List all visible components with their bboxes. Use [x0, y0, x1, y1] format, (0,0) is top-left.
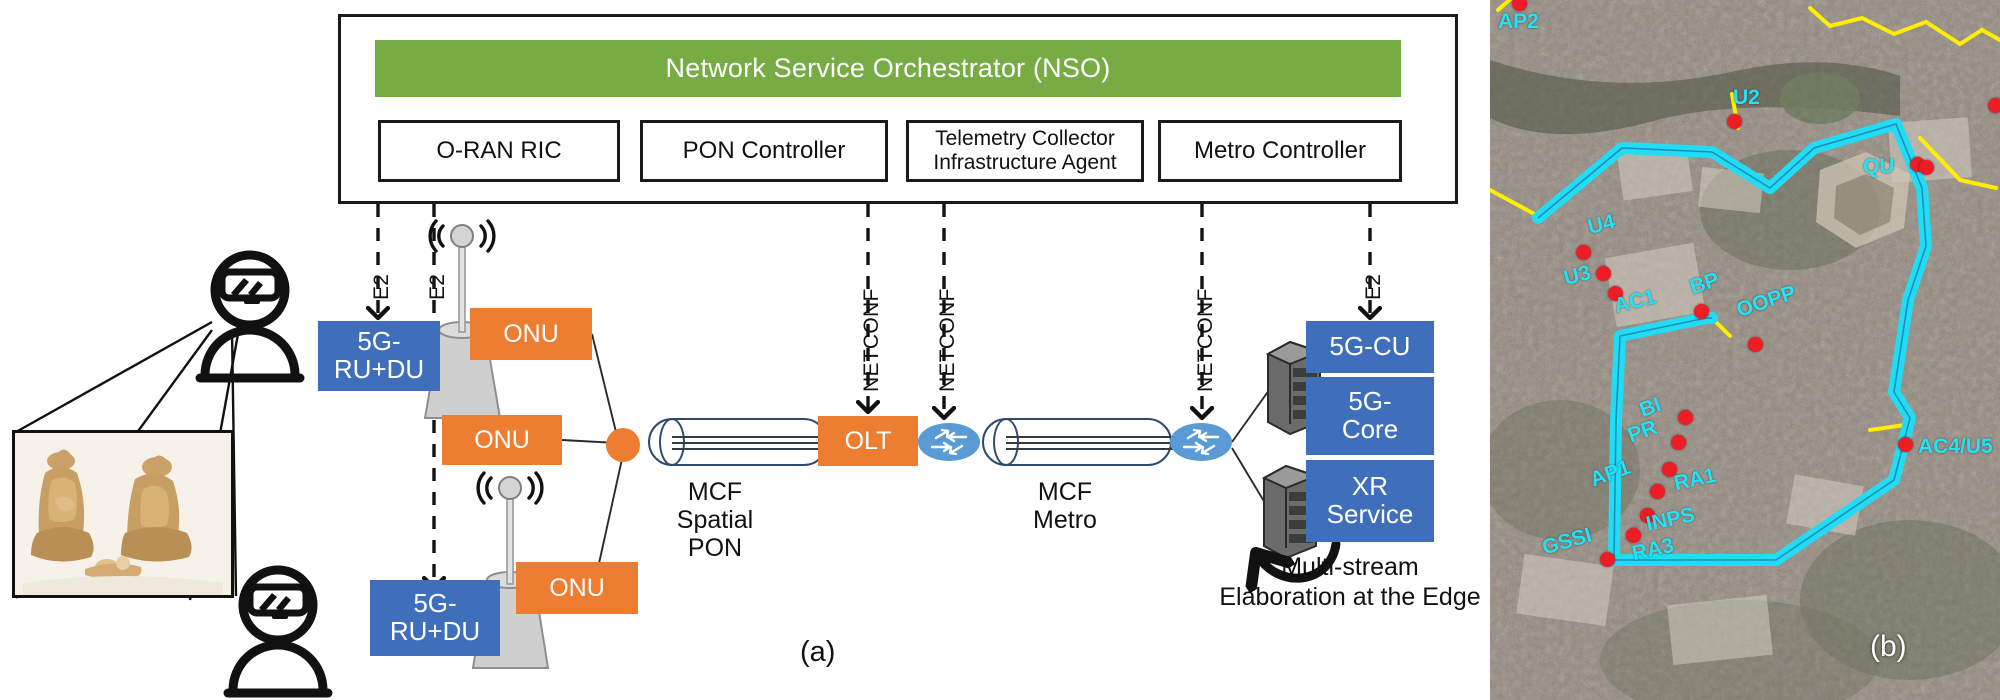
metro-router-2 — [1170, 423, 1232, 461]
controller-box-oran-ric[interactable]: O-RAN RIC — [378, 120, 620, 182]
map-label-ap2: AP2 — [1498, 10, 1539, 34]
core-line-1: 5G- — [1348, 386, 1391, 416]
optical-splitter-node — [606, 428, 640, 462]
edge-note-line-2: Elaboration at the Edge — [1185, 582, 1515, 612]
mcf-access-line-3: PON — [640, 534, 790, 562]
node-onu-2[interactable]: ONU — [442, 415, 562, 465]
map-node-ac4-u5[interactable] — [1898, 437, 1913, 452]
ru-du-bottom-line-1: 5G- — [413, 588, 456, 618]
map-node-right-edge[interactable] — [1988, 98, 2000, 113]
node-onu-3[interactable]: ONU — [516, 562, 638, 614]
edge-note-line-1: Multi-stream — [1185, 552, 1515, 582]
node-5g-cu[interactable]: 5G-CU — [1306, 321, 1434, 373]
core-line-2: Core — [1342, 414, 1398, 444]
controller-box-telemetry-collector[interactable]: Telemetry Collector Infrastructure Agent — [906, 120, 1144, 182]
mcf-spatial-pon-label: MCF Spatial PON — [640, 478, 790, 562]
xr-line-2: Service — [1327, 499, 1414, 529]
node-5g-core[interactable]: 5G- Core — [1306, 377, 1434, 455]
controller-box-pon-controller[interactable]: PON Controller — [640, 120, 888, 182]
map-label-u2: U2 — [1733, 86, 1760, 110]
panel-architecture-diagram: Network Service Orchestrator (NSO) O-RAN… — [0, 0, 1490, 700]
mcf-metro-fiber — [982, 418, 1172, 466]
statue-photo-thumbnail — [12, 430, 234, 598]
mcf-access-line-2: Spatial — [640, 506, 790, 534]
interface-label-netconf-1: NETCONF — [860, 288, 884, 392]
interface-label-e2-1: E2 — [370, 274, 394, 300]
map-label-qu: QU — [1863, 155, 1895, 179]
mcf-metro-label: MCF Metro — [990, 478, 1140, 534]
ru-du-top-line-2: RU+DU — [334, 354, 424, 384]
telemetry-line-2: Infrastructure Agent — [933, 151, 1116, 174]
interface-label-netconf-3: NETCONF — [1194, 288, 1218, 392]
map-node-u3[interactable] — [1576, 245, 1591, 260]
metro-router-1 — [918, 423, 980, 461]
interface-label-netconf-2: NETCONF — [936, 288, 960, 392]
node-onu-1[interactable]: ONU — [470, 308, 592, 360]
interface-label-e2-2: E2 — [426, 274, 450, 300]
mcf-spatial-pon-fiber — [648, 418, 828, 466]
mcf-metro-line-2: Metro — [990, 506, 1140, 534]
node-olt[interactable]: OLT — [818, 416, 918, 466]
node-xr-service[interactable]: XR Service — [1306, 460, 1434, 542]
map-node-pr[interactable] — [1671, 435, 1686, 450]
map-node-oopp[interactable] — [1748, 337, 1763, 352]
node-5g-ru-du-top[interactable]: 5G- RU+DU — [318, 321, 440, 391]
controller-box-metro-controller[interactable]: Metro Controller — [1158, 120, 1402, 182]
ru-du-top-line-1: 5G- — [357, 326, 400, 356]
telemetry-line-1: Telemetry Collector — [935, 127, 1115, 150]
mcf-metro-line-1: MCF — [990, 478, 1140, 506]
multi-stream-edge-note: Multi-stream Elaboration at the Edge — [1185, 552, 1515, 612]
nso-bar[interactable]: Network Service Orchestrator (NSO) — [375, 40, 1401, 97]
xr-line-1: XR — [1352, 471, 1388, 501]
map-node-gssi[interactable] — [1600, 552, 1615, 567]
map-node-ap1[interactable] — [1650, 484, 1665, 499]
ru-du-bottom-line-2: RU+DU — [390, 616, 480, 646]
node-5g-ru-du-bottom[interactable]: 5G- RU+DU — [370, 580, 500, 656]
map-node-u2[interactable] — [1727, 114, 1742, 129]
map-node-bp[interactable] — [1694, 304, 1709, 319]
map-node-bi[interactable] — [1678, 410, 1693, 425]
mcf-access-line-1: MCF — [640, 478, 790, 506]
interface-label-e2-3: E2 — [1362, 274, 1386, 300]
panel-deployment-map: AP2 U2 QU U4 U3 AC1 BP OOPP AC4/U5 BI PR… — [1490, 0, 2000, 700]
panel-b-caption: (b) — [1870, 630, 1907, 664]
panel-a-caption: (a) — [800, 636, 835, 669]
map-node-ac1[interactable] — [1596, 266, 1611, 281]
map-node-qu-b[interactable] — [1919, 160, 1934, 175]
map-label-ac4-u5: AC4/U5 — [1918, 435, 1993, 459]
figure-root: Network Service Orchestrator (NSO) O-RAN… — [0, 0, 2000, 700]
